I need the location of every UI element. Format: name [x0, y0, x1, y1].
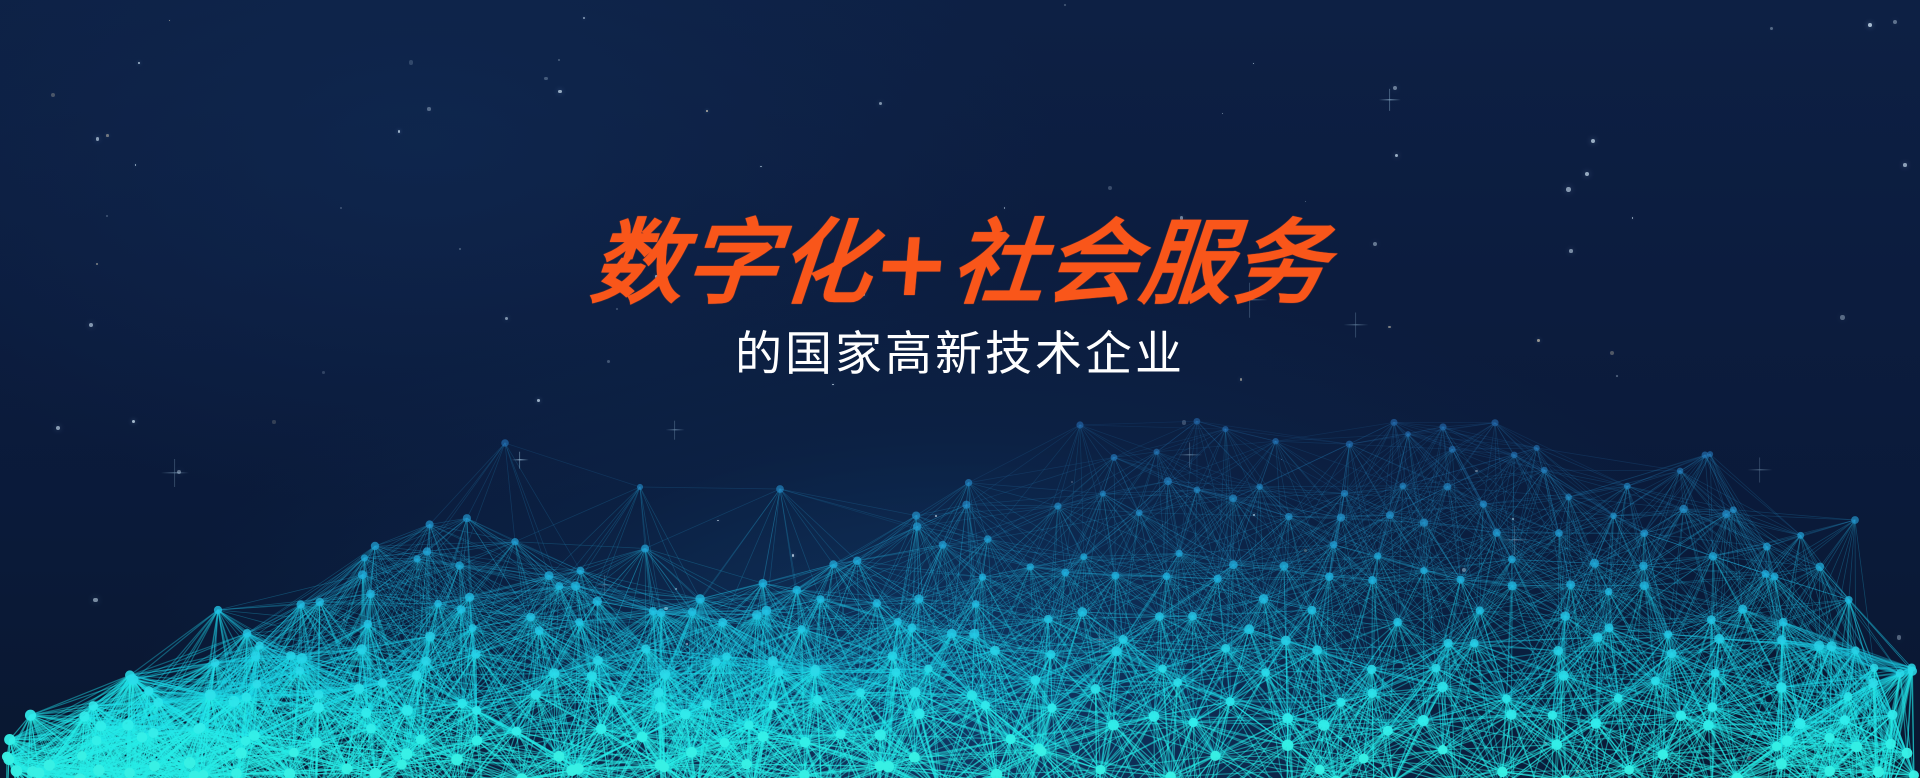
star — [646, 746, 649, 749]
network-node — [972, 600, 980, 608]
network-node — [1367, 688, 1376, 697]
network-node — [1336, 698, 1345, 707]
network-node — [1054, 502, 1061, 509]
network-node — [1158, 664, 1166, 672]
network-node — [1173, 678, 1182, 687]
network-node — [455, 561, 463, 569]
network-node — [1153, 449, 1159, 455]
network-node — [769, 701, 778, 710]
network-node — [1285, 513, 1293, 521]
starfield — [0, 0, 1920, 778]
network-node — [1776, 682, 1786, 692]
star — [1304, 549, 1307, 552]
network-node — [979, 573, 986, 580]
network-node — [451, 754, 463, 766]
star — [935, 515, 938, 518]
network-node — [875, 729, 886, 740]
network-node — [249, 730, 260, 741]
star — [1004, 207, 1006, 209]
network-node — [660, 669, 670, 679]
star — [1566, 187, 1571, 192]
star — [343, 619, 346, 622]
network-node — [1886, 739, 1896, 749]
network-node — [401, 748, 412, 759]
network-node — [149, 761, 160, 772]
network-node — [776, 485, 784, 493]
network-node — [1315, 765, 1325, 775]
network-node — [1664, 630, 1672, 638]
network-node — [1222, 426, 1228, 432]
network-node — [939, 541, 947, 549]
network-node — [1658, 750, 1668, 760]
network-node — [1565, 494, 1572, 501]
network-node — [122, 719, 133, 730]
star-sparkle — [1748, 458, 1773, 483]
star-sparkle — [822, 682, 857, 717]
network-node — [516, 773, 527, 778]
network-node — [92, 736, 102, 746]
network-node — [423, 547, 432, 556]
star — [1064, 4, 1067, 7]
network-node — [1506, 709, 1517, 720]
network-node — [1476, 606, 1484, 614]
star — [1893, 20, 1897, 24]
network-node — [875, 761, 885, 771]
network-node — [1432, 664, 1441, 673]
star — [544, 77, 548, 81]
network-node — [27, 766, 38, 777]
network-node — [1119, 635, 1128, 644]
network-node — [924, 665, 932, 673]
network-node — [544, 571, 553, 580]
network-node — [289, 748, 299, 758]
network-node — [883, 761, 894, 772]
network-node — [412, 671, 422, 681]
network-node — [1155, 612, 1164, 621]
network-node — [752, 610, 761, 619]
network-node — [1108, 720, 1119, 731]
star — [1108, 186, 1112, 190]
network-node — [1437, 682, 1447, 692]
network-node — [1852, 646, 1860, 654]
banner-main-title: 数字化+社会服务 — [0, 216, 1920, 312]
network-node — [1091, 684, 1101, 694]
network-node — [1548, 711, 1557, 720]
network-node — [189, 771, 201, 778]
network-node — [1076, 421, 1083, 428]
network-node — [641, 544, 649, 552]
network-node — [124, 768, 135, 778]
network-node — [1707, 702, 1717, 712]
network-node — [962, 501, 970, 509]
network-node — [1480, 500, 1487, 507]
network-node — [1047, 703, 1056, 712]
network-node — [1502, 694, 1511, 703]
network-node — [137, 732, 148, 743]
network-node — [1814, 641, 1824, 651]
star — [1393, 86, 1397, 90]
network-node — [1259, 594, 1269, 604]
star-sparkle — [1379, 89, 1401, 111]
network-node — [774, 668, 783, 677]
network-node — [526, 613, 535, 622]
network-node — [414, 555, 421, 562]
network-node — [659, 762, 669, 772]
network-node — [4, 734, 15, 745]
network-node — [313, 702, 324, 713]
star — [706, 110, 708, 112]
network-node — [1844, 692, 1853, 701]
network-node — [759, 579, 768, 588]
network-node — [88, 701, 98, 711]
network-node — [242, 693, 251, 702]
network-node — [649, 607, 657, 615]
network-node — [251, 651, 261, 661]
network-node — [1555, 529, 1563, 537]
star — [1576, 770, 1579, 773]
network-node — [361, 554, 368, 561]
network-node — [243, 629, 251, 637]
star — [1903, 163, 1907, 167]
network-node — [912, 511, 920, 519]
star — [1305, 201, 1306, 202]
network-node — [1136, 509, 1143, 516]
network-node — [354, 683, 365, 694]
network-node — [1605, 588, 1613, 596]
star — [398, 130, 401, 133]
network-node — [1714, 634, 1724, 644]
network-node — [873, 599, 881, 607]
star — [409, 60, 413, 64]
network-node — [1393, 618, 1402, 627]
network-node — [688, 608, 696, 616]
star — [56, 426, 60, 430]
network-node — [1593, 632, 1603, 642]
network-node — [1027, 563, 1034, 570]
network-node — [1722, 510, 1730, 518]
network-node — [593, 597, 602, 606]
star — [434, 647, 435, 648]
network-node — [1605, 624, 1614, 633]
star-sparkle — [1087, 627, 1113, 653]
star — [106, 134, 109, 137]
network-node — [909, 752, 920, 763]
network-node — [286, 651, 295, 660]
network-node — [549, 668, 559, 678]
network-node — [434, 600, 442, 608]
star-sparkle — [595, 575, 615, 595]
network-node — [1763, 543, 1771, 551]
network-node — [421, 656, 430, 665]
network-node — [1194, 487, 1201, 494]
network-node — [1731, 773, 1743, 778]
network-node — [297, 653, 307, 663]
network-node — [1175, 550, 1182, 557]
network-node — [1777, 635, 1786, 644]
network-node — [965, 479, 972, 486]
network-node — [762, 606, 772, 616]
network-node — [1703, 720, 1714, 731]
star — [1253, 514, 1255, 516]
network-node — [1390, 419, 1397, 426]
network-node — [128, 674, 139, 685]
network-node — [1868, 678, 1878, 688]
network-node — [817, 595, 825, 603]
star — [1162, 524, 1163, 525]
network-node — [206, 691, 215, 700]
network-node — [366, 589, 375, 598]
network-node — [641, 644, 650, 653]
network-node — [93, 765, 105, 777]
network-node — [311, 737, 322, 748]
network-node — [1824, 766, 1835, 777]
network-node — [296, 600, 304, 608]
network-node — [1006, 734, 1016, 744]
network-node — [1188, 612, 1197, 621]
network-node — [800, 737, 811, 748]
network-node — [1771, 573, 1779, 581]
network-node — [894, 618, 902, 626]
network-node — [1210, 751, 1220, 761]
network-node — [637, 484, 643, 490]
network-node — [1676, 711, 1686, 721]
network-node — [1491, 419, 1498, 426]
star — [1395, 154, 1398, 157]
star — [558, 90, 562, 94]
network-node — [1827, 641, 1837, 651]
network-node — [144, 686, 153, 695]
network-node — [797, 625, 805, 633]
network-node — [888, 651, 898, 661]
network-node — [1420, 518, 1428, 526]
star — [1897, 635, 1902, 640]
network-node — [1639, 562, 1648, 571]
star — [427, 107, 431, 111]
network-node — [1772, 742, 1782, 752]
network-node — [1677, 468, 1683, 474]
network-node — [702, 700, 711, 709]
network-node — [1261, 668, 1270, 677]
network-node — [457, 605, 466, 614]
network-node — [426, 520, 434, 528]
network-node — [799, 770, 809, 778]
network-node — [1330, 541, 1338, 549]
network-node — [1226, 697, 1235, 706]
network-node — [1229, 560, 1238, 569]
network-node — [1667, 649, 1676, 658]
network-node — [1368, 576, 1376, 584]
network-node — [947, 629, 957, 639]
network-node — [1383, 726, 1393, 736]
network-node — [571, 581, 580, 590]
network-node — [1080, 553, 1087, 560]
network-node — [358, 570, 367, 579]
network-node — [695, 594, 705, 604]
star — [537, 399, 540, 402]
network-node — [1738, 605, 1747, 614]
network-node — [555, 582, 563, 590]
star — [1071, 481, 1073, 483]
network-node — [77, 751, 87, 761]
network-node — [1624, 483, 1631, 490]
star — [340, 207, 342, 209]
banner-sub-title: 的国家高新技术企业 — [0, 312, 1920, 385]
network-node — [1318, 720, 1329, 731]
network-node — [637, 732, 648, 743]
star — [197, 725, 201, 729]
network-node — [657, 609, 666, 618]
network-node — [1902, 748, 1913, 759]
network-node — [211, 659, 220, 668]
network-node — [1111, 572, 1119, 580]
network-node — [856, 688, 865, 697]
star — [1585, 172, 1589, 176]
network-node — [1341, 490, 1348, 497]
star — [760, 166, 761, 167]
network-node — [1541, 467, 1548, 474]
star — [1591, 139, 1595, 143]
network-node — [573, 763, 584, 774]
network-node — [1164, 477, 1172, 485]
network-node — [1337, 513, 1345, 521]
network-node — [1257, 484, 1263, 490]
network-node — [1896, 669, 1905, 678]
star — [894, 661, 897, 664]
network-node — [1909, 770, 1919, 778]
network-node — [196, 723, 205, 732]
network-node — [11, 765, 23, 777]
network-node — [1367, 665, 1376, 674]
network-node — [1561, 611, 1571, 621]
network-node — [1457, 576, 1465, 584]
network-node — [744, 720, 754, 730]
network-node — [1399, 483, 1406, 490]
network-node — [984, 535, 992, 543]
network-node — [1873, 766, 1884, 777]
network-node — [231, 768, 242, 778]
network-node — [371, 542, 379, 550]
network-node — [1346, 441, 1353, 448]
star — [1475, 470, 1477, 472]
network-node — [469, 624, 477, 632]
star-sparkle — [1177, 442, 1202, 467]
network-node — [205, 689, 216, 700]
star — [1281, 459, 1282, 460]
network-node — [587, 671, 597, 681]
network-node — [199, 770, 209, 778]
network-node — [295, 666, 304, 675]
star-sparkle — [161, 459, 189, 487]
star — [93, 598, 97, 602]
network-node — [1511, 452, 1518, 459]
network-node — [1497, 767, 1507, 777]
network-node — [1280, 562, 1289, 571]
star — [879, 102, 882, 105]
star — [717, 520, 719, 522]
banner-text-block: 数字化+社会服务 的国家高新技术企业 — [0, 216, 1920, 384]
network-node — [1359, 754, 1369, 764]
network-node — [1386, 511, 1394, 519]
network-node — [908, 624, 917, 633]
star — [138, 62, 140, 64]
network-node — [416, 735, 426, 745]
star — [1369, 535, 1370, 536]
network-node — [1044, 615, 1052, 623]
network-node — [1908, 664, 1916, 672]
network-node — [1840, 715, 1850, 725]
network-node — [2, 752, 12, 762]
star — [294, 708, 295, 709]
network-node — [402, 705, 413, 716]
network-node — [44, 759, 55, 770]
network-node — [1816, 563, 1825, 572]
star-sparkle — [666, 421, 685, 440]
network-node — [1707, 451, 1713, 457]
network-node — [1418, 715, 1429, 726]
network-node — [793, 586, 801, 594]
network-node — [465, 593, 474, 602]
network-node — [653, 687, 663, 697]
network-node — [1420, 567, 1427, 574]
network-node — [1610, 513, 1616, 519]
network-node — [357, 644, 367, 654]
network-node — [511, 538, 518, 545]
star — [1544, 742, 1547, 745]
network-node — [1640, 581, 1649, 590]
network-node — [813, 695, 822, 704]
network-node — [1782, 735, 1793, 746]
network-node — [1046, 650, 1055, 659]
network-node — [364, 620, 372, 628]
network-node — [575, 618, 583, 626]
star — [1253, 63, 1254, 64]
network-node — [1096, 765, 1106, 775]
star — [51, 93, 55, 97]
network-node — [981, 701, 990, 710]
network-node — [1845, 596, 1853, 604]
network-node — [1797, 532, 1804, 539]
network-node — [577, 567, 585, 575]
network-node — [1624, 765, 1634, 775]
network-node — [720, 738, 730, 748]
star — [1182, 420, 1187, 425]
network-node — [1194, 418, 1201, 425]
network-node — [95, 721, 106, 732]
network-mesh-graphic — [0, 0, 1920, 778]
network-node — [33, 768, 44, 778]
network-node — [593, 656, 603, 666]
network-node — [255, 641, 264, 650]
network-node — [1679, 505, 1687, 513]
network-node — [1449, 446, 1456, 453]
network-node — [1282, 739, 1293, 750]
network-node — [1166, 771, 1176, 778]
network-node — [1077, 607, 1087, 617]
network-node — [990, 646, 1000, 656]
network-node — [457, 699, 467, 709]
network-node — [1776, 758, 1787, 769]
network-node — [1707, 615, 1716, 624]
network-node — [1189, 718, 1198, 727]
network-node — [913, 522, 922, 531]
network-node — [768, 656, 778, 666]
star — [664, 607, 668, 611]
network-node — [1651, 676, 1660, 685]
network-node — [314, 690, 323, 699]
network-node — [836, 729, 846, 739]
network-node — [284, 768, 295, 778]
network-node — [811, 665, 820, 674]
